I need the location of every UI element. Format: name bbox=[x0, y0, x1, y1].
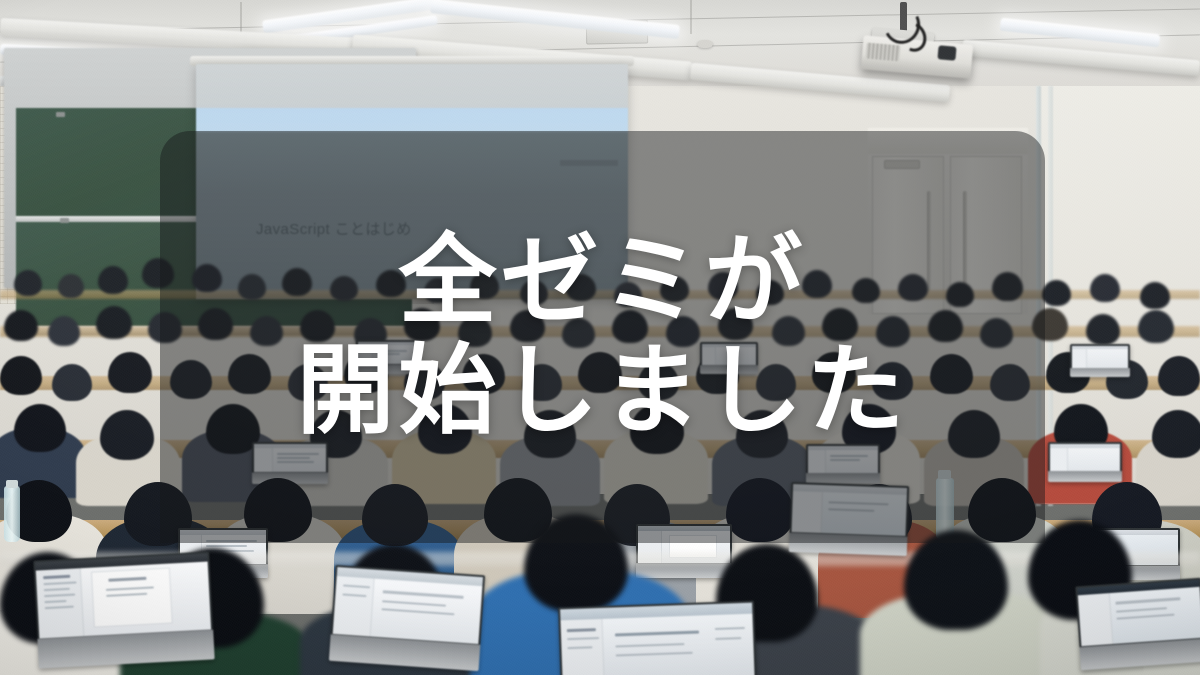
laptop-screen bbox=[558, 601, 758, 675]
screenshot-root: JavaScript ことはじめ bbox=[0, 0, 1200, 675]
laptop-screen bbox=[329, 565, 485, 671]
smoke-detector-icon bbox=[697, 40, 713, 48]
overlay-text-block: 全ゼミが 開始しました bbox=[160, 131, 1045, 543]
projector-lens bbox=[937, 45, 956, 61]
overlay-line-2: 開始しました bbox=[296, 338, 908, 446]
projector-vent bbox=[865, 43, 900, 62]
laptop-screen bbox=[33, 551, 214, 668]
overlay-line-1: 全ゼミが bbox=[398, 228, 806, 336]
laptop-screen bbox=[1075, 578, 1200, 671]
